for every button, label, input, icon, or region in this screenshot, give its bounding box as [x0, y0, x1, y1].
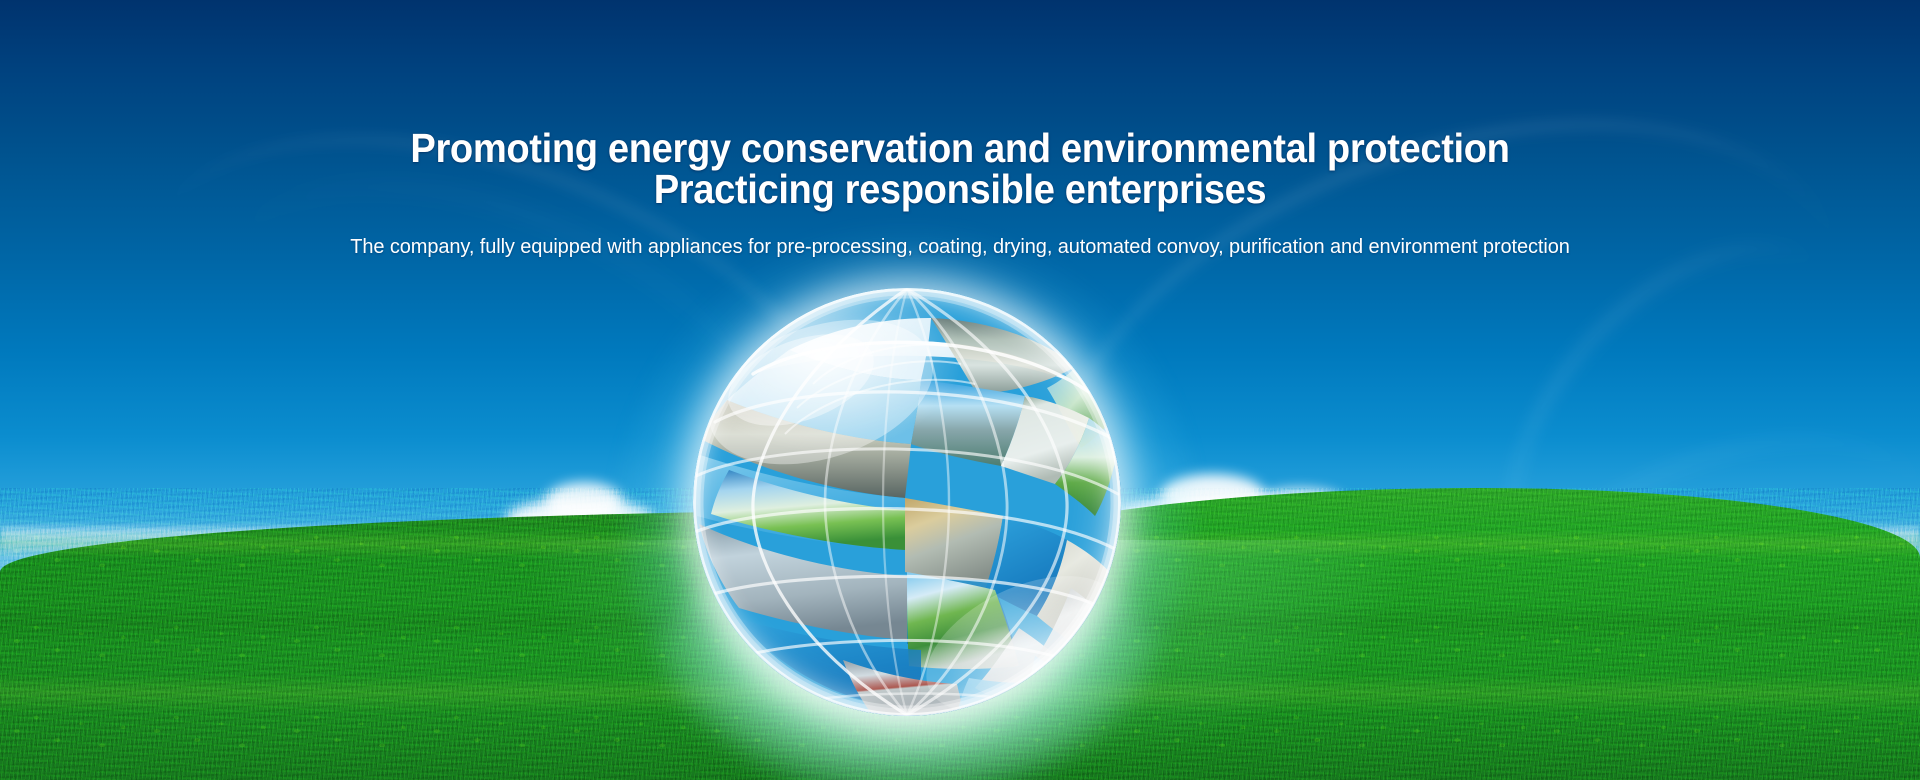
- banner-subtitle: The company, fully equipped with applian…: [0, 236, 1920, 259]
- headline-line-2: Practicing responsible enterprises: [67, 169, 1853, 210]
- globe-grid-svg: [693, 288, 1121, 716]
- globe-body: [693, 288, 1121, 716]
- hero-banner: Promoting energy conservation and enviro…: [0, 0, 1920, 780]
- headline-line-1: Promoting energy conservation and enviro…: [410, 125, 1509, 171]
- page-title: Promoting energy conservation and enviro…: [67, 128, 1853, 210]
- banner-copy: Promoting energy conservation and enviro…: [0, 0, 1920, 259]
- globe-sphere-collage-icon: [693, 288, 1121, 716]
